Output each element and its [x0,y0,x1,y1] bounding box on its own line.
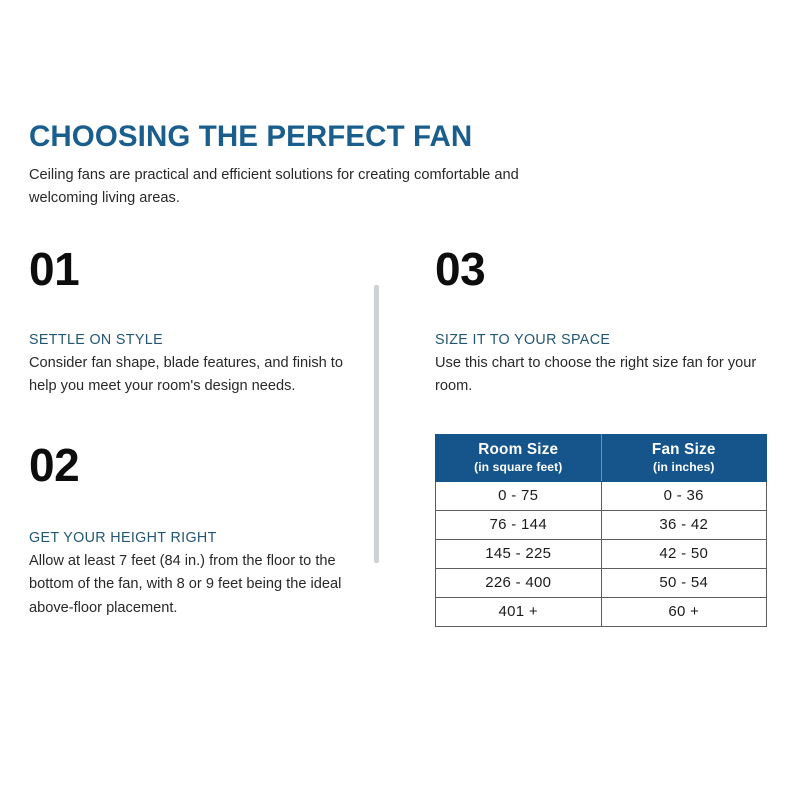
left-column: 01 SETTLE ON STYLE Consider fan shape, b… [29,246,354,620]
cell-fan-size: 42 - 50 [601,540,767,569]
cell-room-size: 226 - 400 [436,569,602,598]
column-header-room-size-sub: (in square feet) [440,460,597,475]
fan-size-chart: Room Size (in square feet) Fan Size (in … [435,434,767,627]
page-title: CHOOSING THE PERFECT FAN [29,122,589,152]
right-column: 03 SIZE IT TO YOUR SPACE Use this chart … [435,246,770,627]
intro-paragraph: Ceiling fans are practical and efficient… [29,164,549,210]
cell-room-size: 0 - 75 [436,482,602,511]
size-chart-header-row: Room Size (in square feet) Fan Size (in … [436,435,767,482]
column-header-fan-size-main: Fan Size [606,441,763,459]
step-body-01: Consider fan shape, blade features, and … [29,352,354,398]
cell-fan-size: 50 - 54 [601,569,767,598]
step-body-02: Allow at least 7 feet (84 in.) from the … [29,550,354,619]
column-divider [374,285,379,563]
cell-fan-size: 0 - 36 [601,482,767,511]
size-chart-head: Room Size (in square feet) Fan Size (in … [436,435,767,482]
step-number-02: 02 [29,442,354,488]
cell-fan-size: 60 + [601,598,767,627]
column-header-fan-size-sub: (in inches) [606,460,763,475]
step-block-01: 01 SETTLE ON STYLE Consider fan shape, b… [29,246,354,398]
cell-room-size: 145 - 225 [436,540,602,569]
step-number-01: 01 [29,246,354,292]
column-header-fan-size: Fan Size (in inches) [601,435,767,482]
infographic-page: CHOOSING THE PERFECT FAN Ceiling fans ar… [0,0,800,800]
step-subhead-01: SETTLE ON STYLE [29,332,354,349]
table-row: 145 - 225 42 - 50 [436,540,767,569]
table-row: 401 + 60 + [436,598,767,627]
step-body-03: Use this chart to choose the right size … [435,352,770,398]
step-subhead-03: SIZE IT TO YOUR SPACE [435,332,770,349]
step-block-03: 03 SIZE IT TO YOUR SPACE Use this chart … [435,246,770,398]
size-chart-wrapper: Room Size (in square feet) Fan Size (in … [435,434,770,627]
column-header-room-size-main: Room Size [440,441,597,459]
table-row: 76 - 144 36 - 42 [436,511,767,540]
cell-fan-size: 36 - 42 [601,511,767,540]
step-subhead-02: GET YOUR HEIGHT RIGHT [29,530,354,547]
cell-room-size: 76 - 144 [436,511,602,540]
step-block-02: 02 GET YOUR HEIGHT RIGHT Allow at least … [29,442,354,619]
table-row: 226 - 400 50 - 54 [436,569,767,598]
column-header-room-size: Room Size (in square feet) [436,435,602,482]
header-block: CHOOSING THE PERFECT FAN Ceiling fans ar… [29,122,589,210]
table-row: 0 - 75 0 - 36 [436,482,767,511]
cell-room-size: 401 + [436,598,602,627]
step-number-03: 03 [435,246,770,292]
size-chart-body: 0 - 75 0 - 36 76 - 144 36 - 42 145 - 225… [436,482,767,627]
